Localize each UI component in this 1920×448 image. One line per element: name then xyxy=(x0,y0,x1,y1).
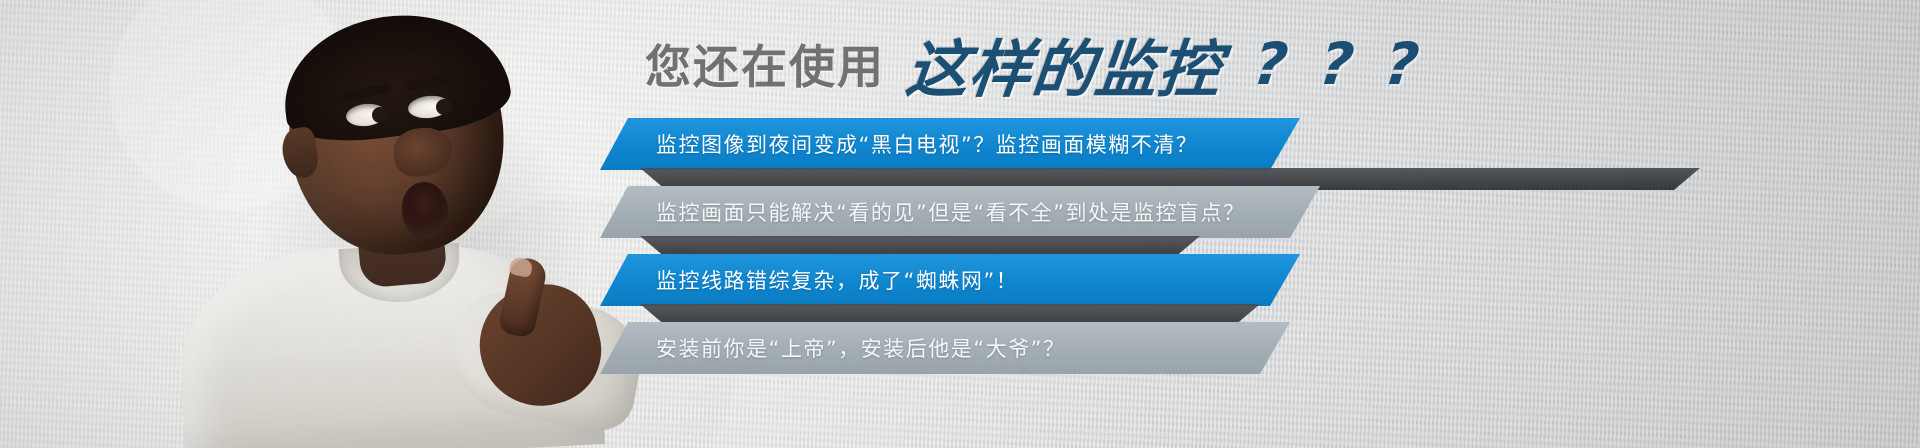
banner-row-4: 安装前你是“上帝”，安装后他是“大爷”？ xyxy=(600,322,1290,374)
banner-row-4-band: 安装前你是“上帝”，安装后他是“大爷”？ xyxy=(600,322,1290,374)
banner-row-1: 监控图像到夜间变成“黑白电视”？监控画面模糊不清？ xyxy=(600,118,1300,170)
headline-question-3: ? xyxy=(1382,30,1423,98)
pupil-right xyxy=(436,99,452,115)
headline-question-2: ? xyxy=(1316,30,1357,98)
banner-row-1-text: 监控图像到夜间变成“黑白电视”？监控画面模糊不清？ xyxy=(600,129,1238,159)
banner-row-3: 监控线路错综复杂，成了“蜘蛛网”！ xyxy=(600,254,1300,306)
headline: 您还在使用 这样的监控 ? ? ? xyxy=(645,24,1419,104)
banner-row-3-band: 监控线路错综复杂，成了“蜘蛛网”！ xyxy=(600,254,1300,306)
banner-row-3-text: 监控线路错综复杂，成了“蜘蛛网”！ xyxy=(600,265,1058,295)
feature-rows: 监控图像到夜间变成“黑白电视”？监控画面模糊不清？ 监控画面只能解决“看的见”但… xyxy=(0,118,1920,378)
banner-row-2-text: 监控画面只能解决“看的见”但是“看不全”到处是监控盲点？ xyxy=(600,197,1286,227)
banner-row-4-text: 安装前你是“上帝”，安装后他是“大爷”？ xyxy=(600,333,1106,363)
banner-row-2: 监控画面只能解决“看的见”但是“看不全”到处是监控盲点？ xyxy=(600,186,1320,238)
headline-question-1: ? xyxy=(1250,30,1291,98)
promo-banner: 您还在使用 这样的监控 ? ? ? 监控图像到夜间变成“黑白电视”？监控画面模糊… xyxy=(0,0,1920,448)
banner-row-2-band: 监控画面只能解决“看的见”但是“看不全”到处是监控盲点？ xyxy=(600,186,1320,238)
headline-lead: 您还在使用 xyxy=(645,31,885,97)
banner-row-1-band: 监控图像到夜间变成“黑白电视”？监控画面模糊不清？ xyxy=(600,118,1300,170)
headline-emphasis: 这样的监控 xyxy=(902,19,1226,109)
